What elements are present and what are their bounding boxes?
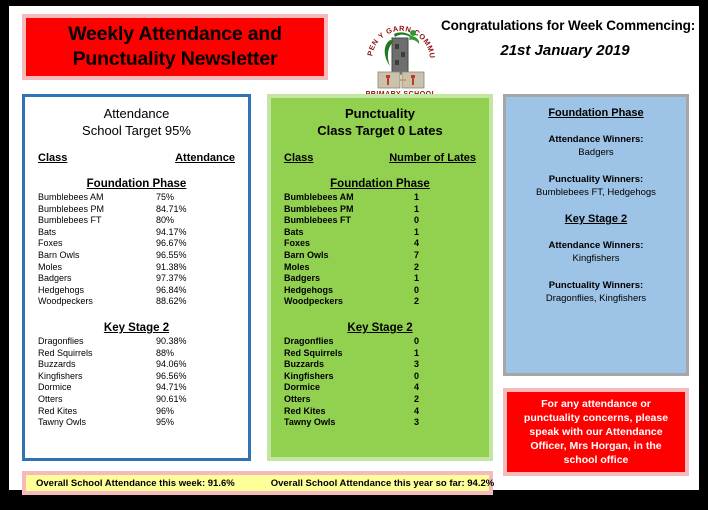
attendance-panel: Attendance School Target 95% Class Atten…	[22, 94, 251, 461]
row-value: 7	[414, 250, 419, 262]
table-row: Red Kites96%	[38, 406, 235, 418]
table-row: Tawny Owls3	[284, 417, 476, 429]
row-value: 1	[414, 273, 419, 285]
row-class-name: Otters	[284, 394, 414, 406]
table-row: Buzzards94.06%	[38, 359, 235, 371]
table-row: Dormice4	[284, 382, 476, 394]
ks2-attendance-winners-label: Attendance Winners:	[512, 239, 680, 252]
congratulations-text: Congratulations for Week Commencing:	[441, 18, 689, 33]
table-row: Badgers97.37%	[38, 273, 235, 285]
newsletter-page: Weekly Attendance and Punctuality Newsle…	[9, 6, 699, 490]
row-value: 97.37%	[156, 273, 187, 285]
row-value: 2	[414, 394, 419, 406]
row-class-name: Bumblebees AM	[38, 192, 156, 204]
row-class-name: Woodpeckers	[38, 296, 156, 308]
row-value: 94.06%	[156, 359, 187, 371]
row-value: 96.84%	[156, 285, 187, 297]
table-row: Hedgehogs0	[284, 285, 476, 297]
row-class-name: Moles	[284, 262, 414, 274]
contact-notice-text: For any attendance or punctuality concer…	[524, 397, 668, 467]
table-row: Moles91.38%	[38, 262, 235, 274]
row-class-name: Dormice	[284, 382, 414, 394]
table-row: Tawny Owls95%	[38, 417, 235, 429]
row-value: 94.71%	[156, 382, 187, 394]
row-value: 0	[414, 215, 419, 227]
row-class-name: Badgers	[38, 273, 156, 285]
table-row: Woodpeckers2	[284, 296, 476, 308]
table-row: Buzzards3	[284, 359, 476, 371]
row-class-name: Buzzards	[38, 359, 156, 371]
table-row: Otters90.61%	[38, 394, 235, 406]
row-class-name: Bats	[38, 227, 156, 239]
row-value: 0	[414, 371, 419, 383]
fp-punctuality-winners-label: Punctuality Winners:	[512, 173, 680, 186]
table-row: Kingfishers96.56%	[38, 371, 235, 383]
row-class-name: Bumblebees PM	[38, 204, 156, 216]
row-value: 96%	[156, 406, 174, 418]
attendance-ks2-heading: Key Stage 2	[38, 322, 235, 334]
table-row: Foxes96.67%	[38, 238, 235, 250]
row-class-name: Otters	[38, 394, 156, 406]
punctuality-ks2-rows: Dragonflies0Red Squirrels1Buzzards3Kingf…	[284, 336, 476, 429]
row-class-name: Dragonflies	[284, 336, 414, 348]
row-class-name: Red Squirrels	[38, 348, 156, 360]
row-value: 91.38%	[156, 262, 187, 274]
row-value: 4	[414, 406, 419, 418]
punctuality-foundation-rows: Bumblebees AM1Bumblebees PM1Bumblebees F…	[284, 192, 476, 308]
table-row: Dragonflies90.38%	[38, 336, 235, 348]
row-value: 4	[414, 382, 419, 394]
row-class-name: Barn Owls	[38, 250, 156, 262]
row-class-name: Dragonflies	[38, 336, 156, 348]
row-class-name: Foxes	[284, 238, 414, 250]
newsletter-title-box: Weekly Attendance and Punctuality Newsle…	[22, 14, 328, 80]
table-row: Badgers1	[284, 273, 476, 285]
table-row: Red Squirrels1	[284, 348, 476, 360]
row-class-name: Barn Owls	[284, 250, 414, 262]
table-row: Hedgehogs96.84%	[38, 285, 235, 297]
row-value: 75%	[156, 192, 174, 204]
row-value: 80%	[156, 215, 174, 227]
contact-line-5: school office	[524, 453, 668, 467]
punctuality-subtitle: Class Target 0 Lates	[284, 122, 476, 139]
table-row: Barn Owls7	[284, 250, 476, 262]
punctuality-title: Punctuality	[284, 105, 476, 122]
attendance-col-value: Attendance	[175, 152, 235, 164]
fp-attendance-winners-value: Badgers	[512, 146, 680, 159]
winners-panel: Foundation Phase Attendance Winners: Bad…	[503, 94, 689, 376]
row-value: 1	[414, 227, 419, 239]
fp-attendance-winners-label: Attendance Winners:	[512, 133, 680, 146]
document-frame: Weekly Attendance and Punctuality Newsle…	[0, 0, 708, 510]
row-value: 1	[414, 348, 419, 360]
school-logo: PEN Y GARN COMMUNITY PRIMARY S	[364, 10, 438, 98]
row-value: 0	[414, 336, 419, 348]
row-value: 0	[414, 285, 419, 297]
row-value: 96.56%	[156, 371, 187, 383]
row-class-name: Red Kites	[38, 406, 156, 418]
title-line-2: Punctuality Newsletter	[73, 47, 278, 72]
punctuality-col-class: Class	[284, 152, 313, 164]
ks2-punctuality-winners-value: Dragonflies, Kingfishers	[512, 292, 680, 305]
row-class-name: Hedgehogs	[284, 285, 414, 297]
table-row: Dragonflies0	[284, 336, 476, 348]
row-value: 88.62%	[156, 296, 187, 308]
row-value: 90.61%	[156, 394, 187, 406]
punctuality-column-headers: Class Number of Lates	[284, 152, 476, 164]
table-row: Red Squirrels88%	[38, 348, 235, 360]
row-class-name: Bumblebees FT	[284, 215, 414, 227]
row-class-name: Woodpeckers	[284, 296, 414, 308]
attendance-column-headers: Class Attendance	[38, 152, 235, 164]
contact-line-4: Officer, Mrs Horgan, in the	[524, 439, 668, 453]
attendance-ks2-rows: Dragonflies90.38%Red Squirrels88%Buzzard…	[38, 336, 235, 429]
row-value: 3	[414, 417, 419, 429]
table-row: Bumblebees PM1	[284, 204, 476, 216]
row-value: 3	[414, 359, 419, 371]
ks2-attendance-winners-value: Kingfishers	[512, 252, 680, 265]
contact-line-1: For any attendance or	[524, 397, 668, 411]
attendance-title: Attendance	[38, 105, 235, 122]
table-row: Otters2	[284, 394, 476, 406]
ks2-punctuality-winners-label: Punctuality Winners:	[512, 279, 680, 292]
table-row: Woodpeckers88.62%	[38, 296, 235, 308]
winners-ks2-heading: Key Stage 2	[512, 213, 680, 225]
punctuality-foundation-heading: Foundation Phase	[284, 178, 476, 190]
overall-attendance-footer: Overall School Attendance this week: 91.…	[22, 471, 493, 495]
row-class-name: Kingfishers	[38, 371, 156, 383]
table-row: Dormice94.71%	[38, 382, 235, 394]
row-class-name: Red Kites	[284, 406, 414, 418]
row-value: 1	[414, 204, 419, 216]
row-class-name: Bumblebees FT	[38, 215, 156, 227]
row-value: 90.38%	[156, 336, 187, 348]
row-class-name: Bats	[284, 227, 414, 239]
table-row: Bumblebees AM75%	[38, 192, 235, 204]
row-value: 2	[414, 262, 419, 274]
table-row: Bumblebees PM84.71%	[38, 204, 235, 216]
row-class-name: Hedgehogs	[38, 285, 156, 297]
attendance-foundation-rows: Bumblebees AM75%Bumblebees PM84.71%Bumbl…	[38, 192, 235, 308]
header-congratulations: Congratulations for Week Commencing: 21s…	[441, 18, 689, 59]
table-row: Red Kites4	[284, 406, 476, 418]
table-row: Foxes4	[284, 238, 476, 250]
school-crest-icon: PEN Y GARN COMMUNITY PRIMARY S	[364, 10, 438, 98]
table-row: Barn Owls96.55%	[38, 250, 235, 262]
row-value: 88%	[156, 348, 174, 360]
row-class-name: Foxes	[38, 238, 156, 250]
row-class-name: Tawny Owls	[38, 417, 156, 429]
week-commencing-date: 21st January 2019	[441, 42, 689, 59]
row-value: 96.55%	[156, 250, 187, 262]
overall-attendance-week: Overall School Attendance this week: 91.…	[36, 478, 235, 489]
punctuality-panel: Punctuality Class Target 0 Lates Class N…	[267, 94, 493, 461]
row-value: 84.71%	[156, 204, 187, 216]
table-row: Bats94.17%	[38, 227, 235, 239]
row-class-name: Badgers	[284, 273, 414, 285]
table-row: Bumblebees FT80%	[38, 215, 235, 227]
row-class-name: Buzzards	[284, 359, 414, 371]
table-row: Bumblebees AM1	[284, 192, 476, 204]
fp-punctuality-winners-value: Bumblebees FT, Hedgehogs	[512, 186, 680, 199]
winners-foundation-heading: Foundation Phase	[512, 107, 680, 119]
row-class-name: Tawny Owls	[284, 417, 414, 429]
punctuality-ks2-heading: Key Stage 2	[284, 322, 476, 334]
row-value: 2	[414, 296, 419, 308]
contact-notice-box: For any attendance or punctuality concer…	[503, 388, 689, 476]
row-value: 94.17%	[156, 227, 187, 239]
row-value: 95%	[156, 417, 174, 429]
table-row: Kingfishers0	[284, 371, 476, 383]
contact-line-3: speak with our Attendance	[524, 425, 668, 439]
row-class-name: Bumblebees AM	[284, 192, 414, 204]
row-class-name: Kingfishers	[284, 371, 414, 383]
table-row: Moles2	[284, 262, 476, 274]
punctuality-col-value: Number of Lates	[389, 152, 476, 164]
table-row: Bumblebees FT0	[284, 215, 476, 227]
row-class-name: Bumblebees PM	[284, 204, 414, 216]
table-row: Bats1	[284, 227, 476, 239]
row-class-name: Moles	[38, 262, 156, 274]
row-class-name: Red Squirrels	[284, 348, 414, 360]
title-line-1: Weekly Attendance and	[68, 22, 282, 47]
contact-line-2: punctuality concerns, please	[524, 411, 668, 425]
attendance-subtitle: School Target 95%	[38, 122, 235, 139]
row-value: 4	[414, 238, 419, 250]
overall-attendance-year: Overall School Attendance this year so f…	[271, 478, 495, 489]
attendance-foundation-heading: Foundation Phase	[38, 178, 235, 190]
row-value: 1	[414, 192, 419, 204]
row-value: 96.67%	[156, 238, 187, 250]
attendance-col-class: Class	[38, 152, 67, 164]
row-class-name: Dormice	[38, 382, 156, 394]
